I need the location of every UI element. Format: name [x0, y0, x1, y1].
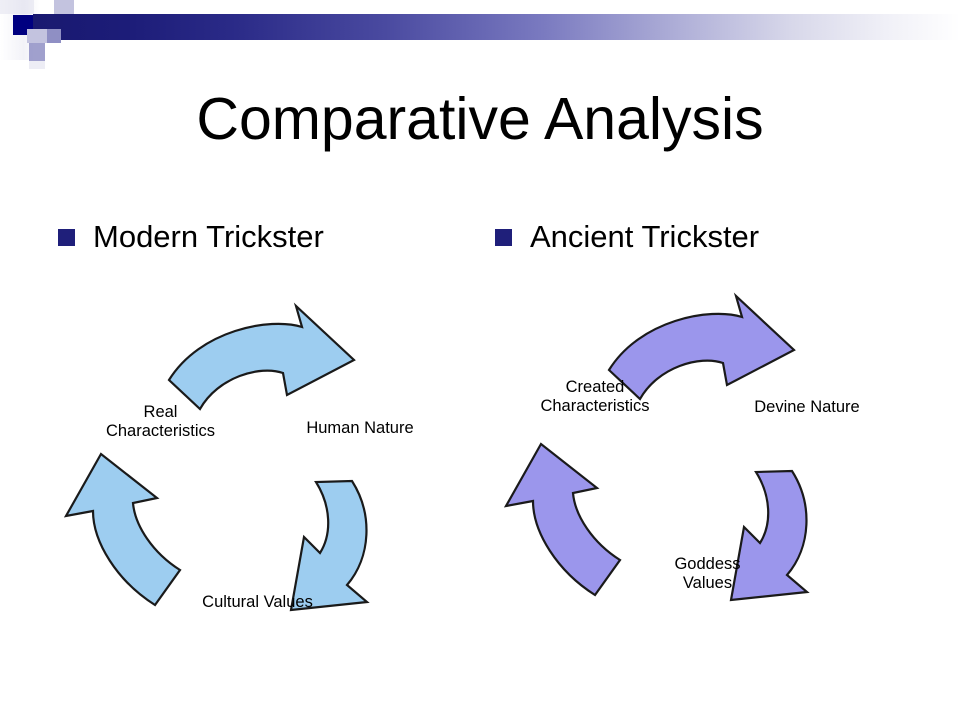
column-heading-modern: Modern Trickster	[58, 219, 324, 255]
column-heading-label-modern: Modern Trickster	[93, 219, 324, 255]
cycle-diagram-ancient: Created Characteristics Devine Nature Go…	[495, 275, 895, 620]
cycle-arrow-top-modern	[169, 306, 354, 409]
cycle-label-created-characteristics: Created Characteristics	[505, 378, 685, 417]
cycle-label-goddess-values: Goddess Values	[635, 555, 780, 594]
cycle-label-human-nature: Human Nature	[280, 419, 440, 438]
column-heading-ancient: Ancient Trickster	[495, 219, 759, 255]
cycle-label-devine-nature: Devine Nature	[727, 398, 887, 417]
bullet-square-icon	[58, 229, 75, 246]
cycle-label-real-characteristics: Real Characteristics	[73, 403, 248, 442]
band-gradient	[33, 14, 960, 40]
bullet-square-icon	[495, 229, 512, 246]
accent-square-light-b	[27, 29, 47, 43]
cycle-arrow-right-modern	[291, 481, 367, 610]
accent-square-pale-bottom	[29, 61, 45, 69]
cycle-svg-modern	[55, 285, 455, 630]
header-decoration	[0, 0, 960, 60]
accent-square-pale-topleft	[0, 0, 34, 14]
cycle-diagram-modern: Real Characteristics Human Nature Cultur…	[55, 285, 455, 630]
accent-square-mid-b	[47, 29, 61, 43]
cycle-label-cultural-values: Cultural Values	[170, 593, 345, 612]
cycle-arrow-left-ancient	[506, 444, 620, 595]
cycle-arrow-left-modern	[66, 454, 180, 605]
accent-square-light-top	[54, 0, 74, 14]
accent-square-mid-c	[29, 43, 45, 61]
page-title: Comparative Analysis	[0, 85, 960, 153]
column-heading-label-ancient: Ancient Trickster	[530, 219, 759, 255]
